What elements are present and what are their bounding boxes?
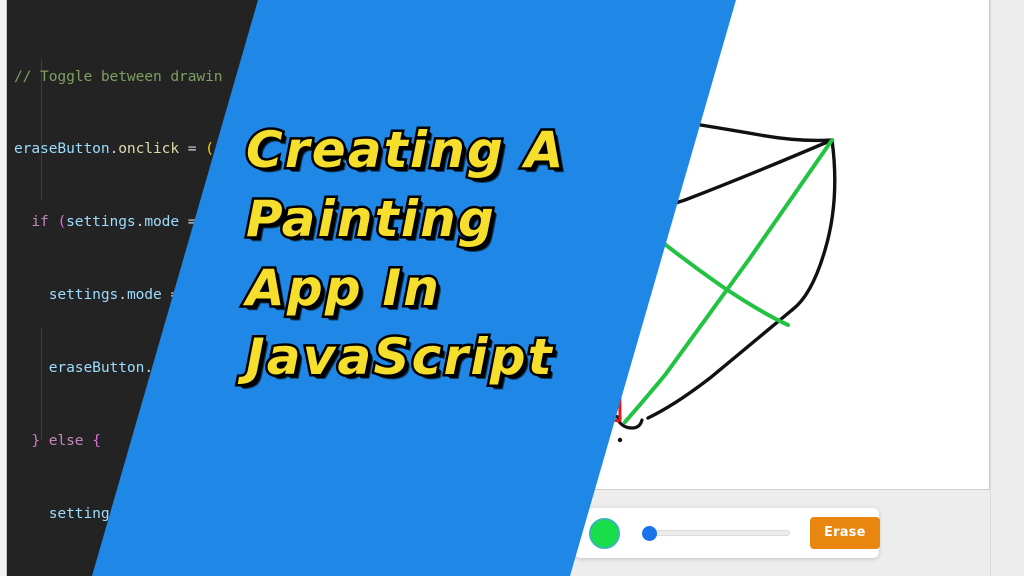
black-lower-right-stroke (648, 310, 792, 418)
erase-button[interactable]: Erase (810, 517, 880, 549)
paint-toolbar: Erase (575, 508, 879, 558)
title-line-4: JavaScript (246, 323, 606, 392)
red-vertical-stroke (619, 208, 620, 420)
slider-track[interactable] (646, 530, 790, 536)
code-line: settings.mode = (14, 502, 420, 526)
code-line: } else { (14, 429, 420, 453)
slider-thumb[interactable] (642, 526, 657, 541)
stray-dot (618, 438, 622, 442)
code-line: // Toggle between drawin (14, 65, 420, 89)
black-bottom-hook-stroke (618, 420, 642, 428)
page-right-gutter (990, 0, 1024, 576)
green-stroke-two (620, 208, 788, 325)
title-line-2: Painting (246, 185, 606, 254)
brush-size-slider[interactable] (642, 524, 790, 542)
editor-left-gutter (0, 0, 7, 576)
title-line-1: Creating A (246, 116, 606, 185)
color-picker-swatch[interactable] (589, 518, 620, 549)
black-diagonal-stroke (620, 140, 832, 209)
title-line-3: App In (246, 254, 606, 323)
black-outline-stroke (580, 108, 832, 140)
thumbnail-stage: // Toggle between drawin eraseButton.onc… (0, 0, 1024, 576)
page-title: Creating A Painting App In JavaScript (246, 116, 606, 392)
